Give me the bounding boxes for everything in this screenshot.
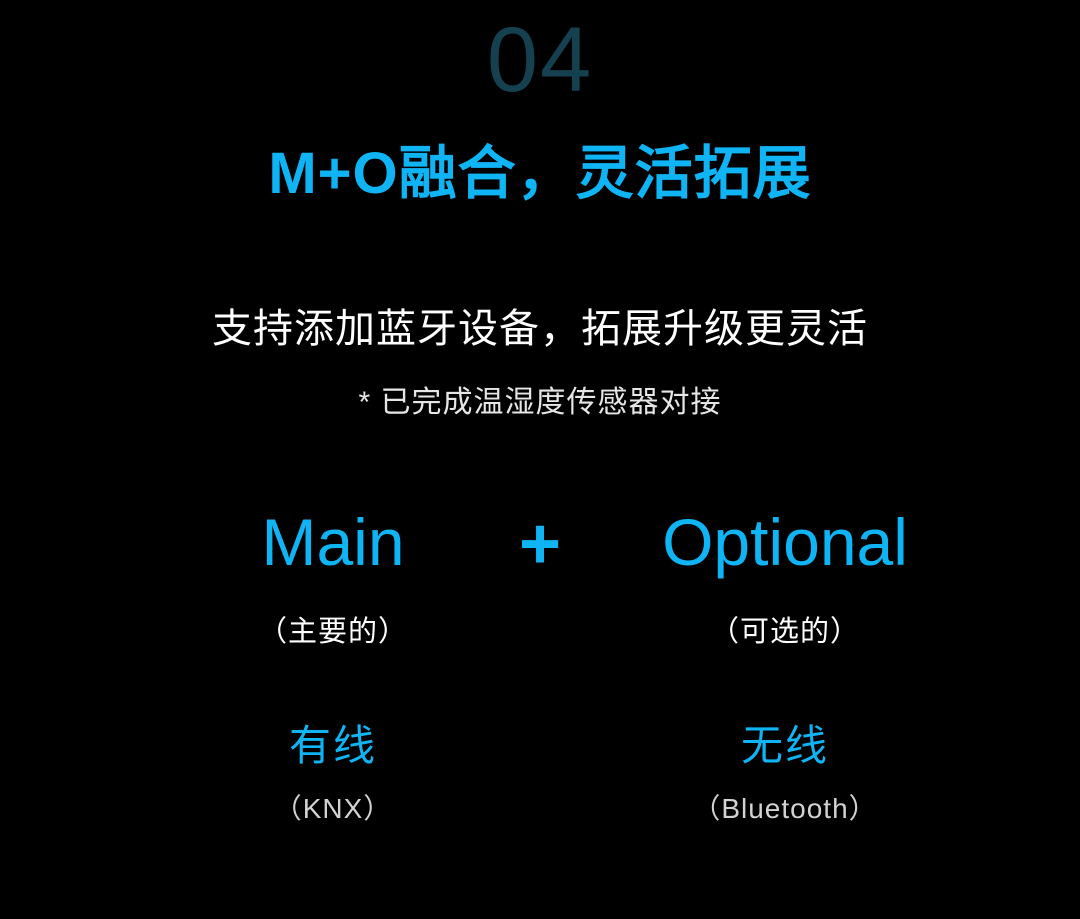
subtitle-text: 支持添加蓝牙设备，拓展升级更灵活 [0, 305, 1080, 353]
column-optional-tech: （Bluetooth） [605, 787, 965, 827]
column-optional-title: Optional [605, 500, 965, 584]
comparison-block: Main （主要的） 有线 （KNX） + Optional （可选的） 无线 … [0, 500, 1080, 860]
column-optional-mode: 无线 [605, 712, 965, 773]
column-main-subtitle: （主要的） [153, 608, 513, 650]
column-optional: Optional （可选的） 无线 （Bluetooth） [605, 500, 965, 827]
column-main-mode: 有线 [153, 712, 513, 773]
slide-canvas: 04 M+O融合，灵活拓展 支持添加蓝牙设备，拓展升级更灵活 * 已完成温湿度传… [0, 0, 1080, 919]
column-optional-subtitle: （可选的） [605, 608, 965, 650]
page-title: M+O融合，灵活拓展 [0, 142, 1080, 206]
section-number-watermark: 04 [0, 14, 1080, 106]
column-main-tech: （KNX） [153, 787, 513, 827]
footnote-text: * 已完成温湿度传感器对接 [0, 385, 1080, 421]
